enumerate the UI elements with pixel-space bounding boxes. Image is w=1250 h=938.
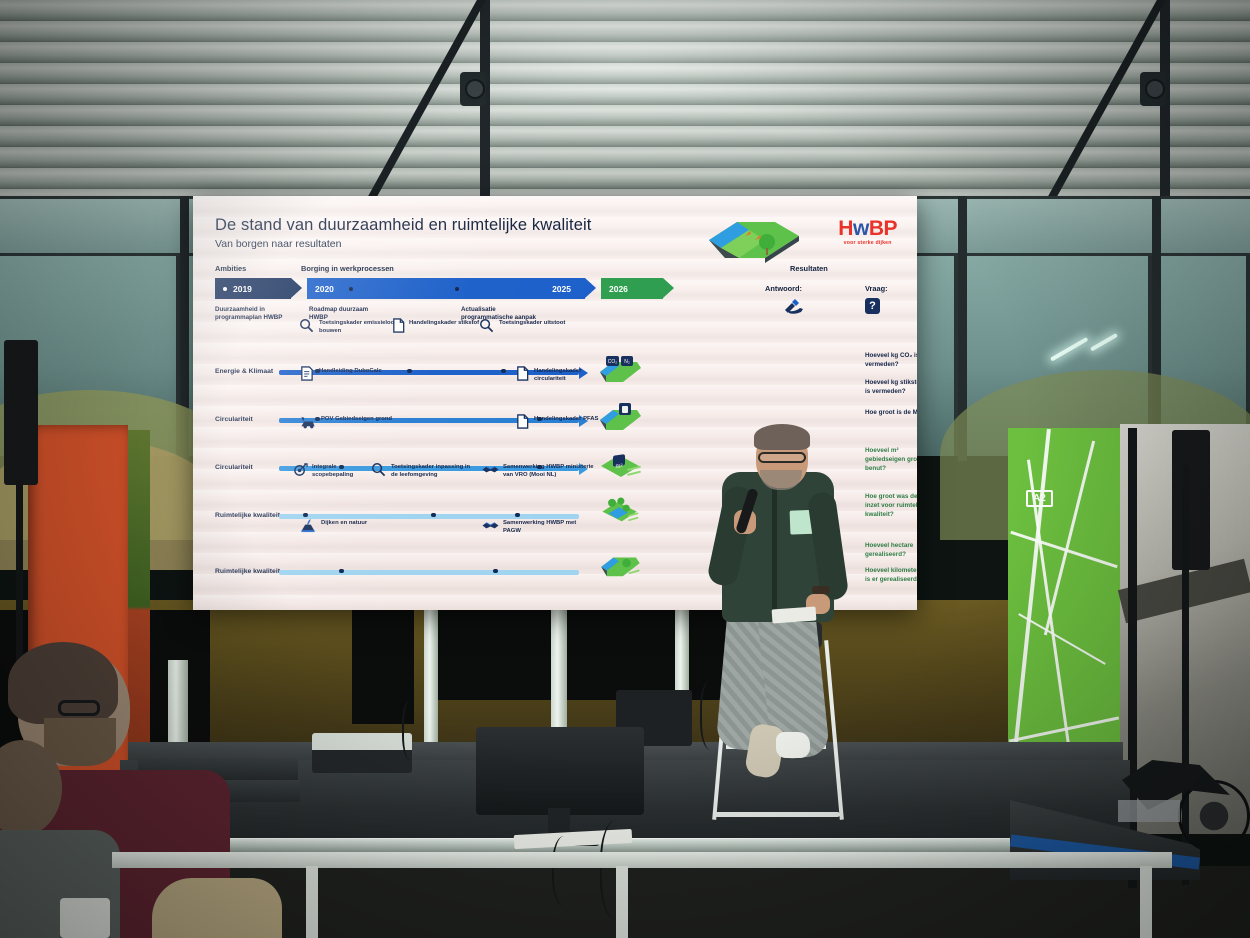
question-1: Hoeveel kg stikstof is vermeden? (865, 378, 917, 396)
cable-3 (402, 700, 422, 760)
row-node-4-0 (339, 569, 344, 574)
support-column-1 (424, 604, 438, 764)
ceiling-light-fixture-right (1140, 72, 1166, 106)
question-2: Hoe groot is de MKI? (865, 408, 917, 417)
presenter-shoe (776, 732, 810, 758)
presenter-shirt-placket (772, 480, 777, 615)
manual-icon (299, 366, 314, 381)
logo-letters-bp: BP (869, 217, 897, 240)
magnifier-icon (299, 318, 314, 333)
photo-scene: De stand van duurzaamheid en ruimtelijke… (0, 0, 1250, 938)
magnifier-icon (371, 462, 386, 477)
row-item-4-1: Samenwerking HWBP met PAGW (503, 520, 583, 535)
audio-mixer (312, 733, 412, 773)
row-node-3-2 (515, 513, 520, 518)
borging-node-1 (349, 287, 353, 291)
ceiling-light-fixture-left (460, 72, 486, 106)
field-m2-icon: m² (597, 450, 643, 480)
resultaten-year: 2026 (609, 284, 628, 294)
pa-speaker-right (1172, 430, 1210, 570)
question-3: Hoeveel m² gebiedseigen grond is benut? (865, 446, 917, 473)
landscape-trees-icon (597, 494, 643, 524)
row-item-3-1: Toetsingskader inpassing in de leefomgev… (391, 464, 477, 479)
row-item-2-0: POV Gebiedseigen grond (321, 416, 397, 424)
row-node-4-1 (493, 569, 498, 574)
row-label-4: Ruimtelijke kwaliteit (215, 568, 280, 575)
writing-hand-icon (783, 297, 805, 315)
row-node-0-1 (407, 369, 412, 374)
audience-chair-back (60, 898, 110, 938)
logo-letter-w: w (853, 217, 869, 240)
row-item-2-1: Handelingskader PFAS (534, 416, 612, 424)
hero-dike-illustration (703, 214, 799, 270)
column-header-resultaten: Resultaten (790, 264, 828, 273)
stage-monitor-screen (476, 727, 644, 815)
row-item-0-0: Toetsingskader emissieloos bouwen (319, 320, 399, 335)
question-6: Hoeveel kilometer dijk is er gerealiseer… (865, 566, 917, 584)
document-icon (515, 414, 530, 429)
question-0: Hoeveel kg CO₂ is vermeden? (865, 351, 917, 369)
arrow-ambities-tip (291, 278, 302, 298)
row-track-4 (279, 570, 579, 575)
question-5: Hoeveel hectare gerealiseerd? (865, 541, 917, 559)
target-icon (293, 462, 308, 477)
row-item-4-0: Dijken en natuur (321, 520, 381, 528)
foreground-table (112, 852, 1172, 868)
borging-end-year: 2025 (552, 284, 571, 294)
arrow-borging: 2020 2025 (307, 278, 585, 299)
row-label-1: Circulariteit (215, 416, 253, 423)
document-icon (391, 318, 406, 333)
audience-member-3-leg (152, 878, 282, 938)
arrow-resultaten-tip (663, 278, 674, 298)
hwbp-logo: HwBP voor sterke dijken (838, 218, 897, 246)
presenter-hair (754, 424, 810, 450)
logo-letter-h: H (838, 217, 853, 240)
ambities-year: 2019 (233, 284, 252, 294)
row-node-3-0 (303, 513, 308, 518)
pa-speaker-left (4, 340, 38, 485)
row-item-0-2: Toetsingskader uitstoot (499, 320, 571, 328)
handshake-icon (481, 518, 500, 533)
row-item-0-1: Handelingskader stikstof (409, 320, 481, 328)
presenter-watch (812, 586, 830, 594)
logo-tagline: voor sterke dijken (838, 241, 897, 246)
road-badge-a2: A2 (1026, 490, 1053, 507)
arrow-borging-tip (585, 278, 596, 298)
row-track-3 (279, 514, 579, 519)
borging-start-year: 2020 (315, 284, 334, 294)
arrow-resultaten: 2026 (601, 278, 663, 299)
column-header-borging: Borging in werkprocessen (301, 264, 394, 273)
arrow-ambities: 2019 (215, 278, 291, 299)
ambities-bullet (223, 287, 227, 291)
audience-1-beard (44, 718, 116, 766)
milestone-note-0: Duurzaamheid in programmaplan HWBP (215, 306, 285, 323)
row-item-1-1: Handelingskader circulariteit (534, 368, 612, 383)
handshake-icon (481, 462, 500, 477)
foreground-table-leg-2 (616, 866, 628, 938)
question-mark-icon: ? (865, 298, 880, 314)
row-label-0: Energie & Klimaat (215, 368, 273, 375)
svg-text:CO₂: CO₂ (608, 359, 618, 365)
row-item-1-0: Handleiding DuboCalc (319, 368, 391, 376)
row-item-3-2: Samenwerking HWBP ministerie van VRO (Mo… (503, 464, 597, 479)
bicycle-rack (1118, 800, 1180, 822)
svg-text:N₂: N₂ (624, 359, 630, 365)
foreground-table-leg-3 (1140, 866, 1152, 938)
map-road-6 (1018, 613, 1106, 665)
row-node-3-1 (431, 513, 436, 518)
column-header-ambities: Ambities (215, 264, 246, 273)
row-node-0-2 (501, 369, 506, 374)
row-label-3: Ruimtelijke kwaliteit (215, 512, 280, 519)
row-item-3-0: Integrale scopebepaling (312, 464, 374, 479)
foreground-table-leg-1 (306, 866, 318, 938)
dike-nature-icon (299, 518, 317, 533)
dike-tree-icon (597, 550, 643, 580)
magnifier-icon (479, 318, 494, 333)
presenter-glasses (758, 452, 806, 463)
row-label-2: Circulariteit (215, 464, 253, 471)
map-road-5 (1044, 441, 1095, 636)
question-4: Hoe groot was de inzet voor ruimtelijke … (865, 492, 917, 519)
column-header-antwoord: Antwoord: (765, 284, 802, 293)
borging-node-2 (455, 287, 459, 291)
stool-foot-rail (714, 812, 840, 817)
svg-text:m²: m² (616, 464, 623, 470)
cable-1 (552, 836, 582, 906)
audience-1-glasses (58, 700, 100, 716)
excavator-icon (299, 414, 317, 429)
document-icon (515, 366, 530, 381)
column-header-vraag: Vraag: (865, 284, 888, 293)
